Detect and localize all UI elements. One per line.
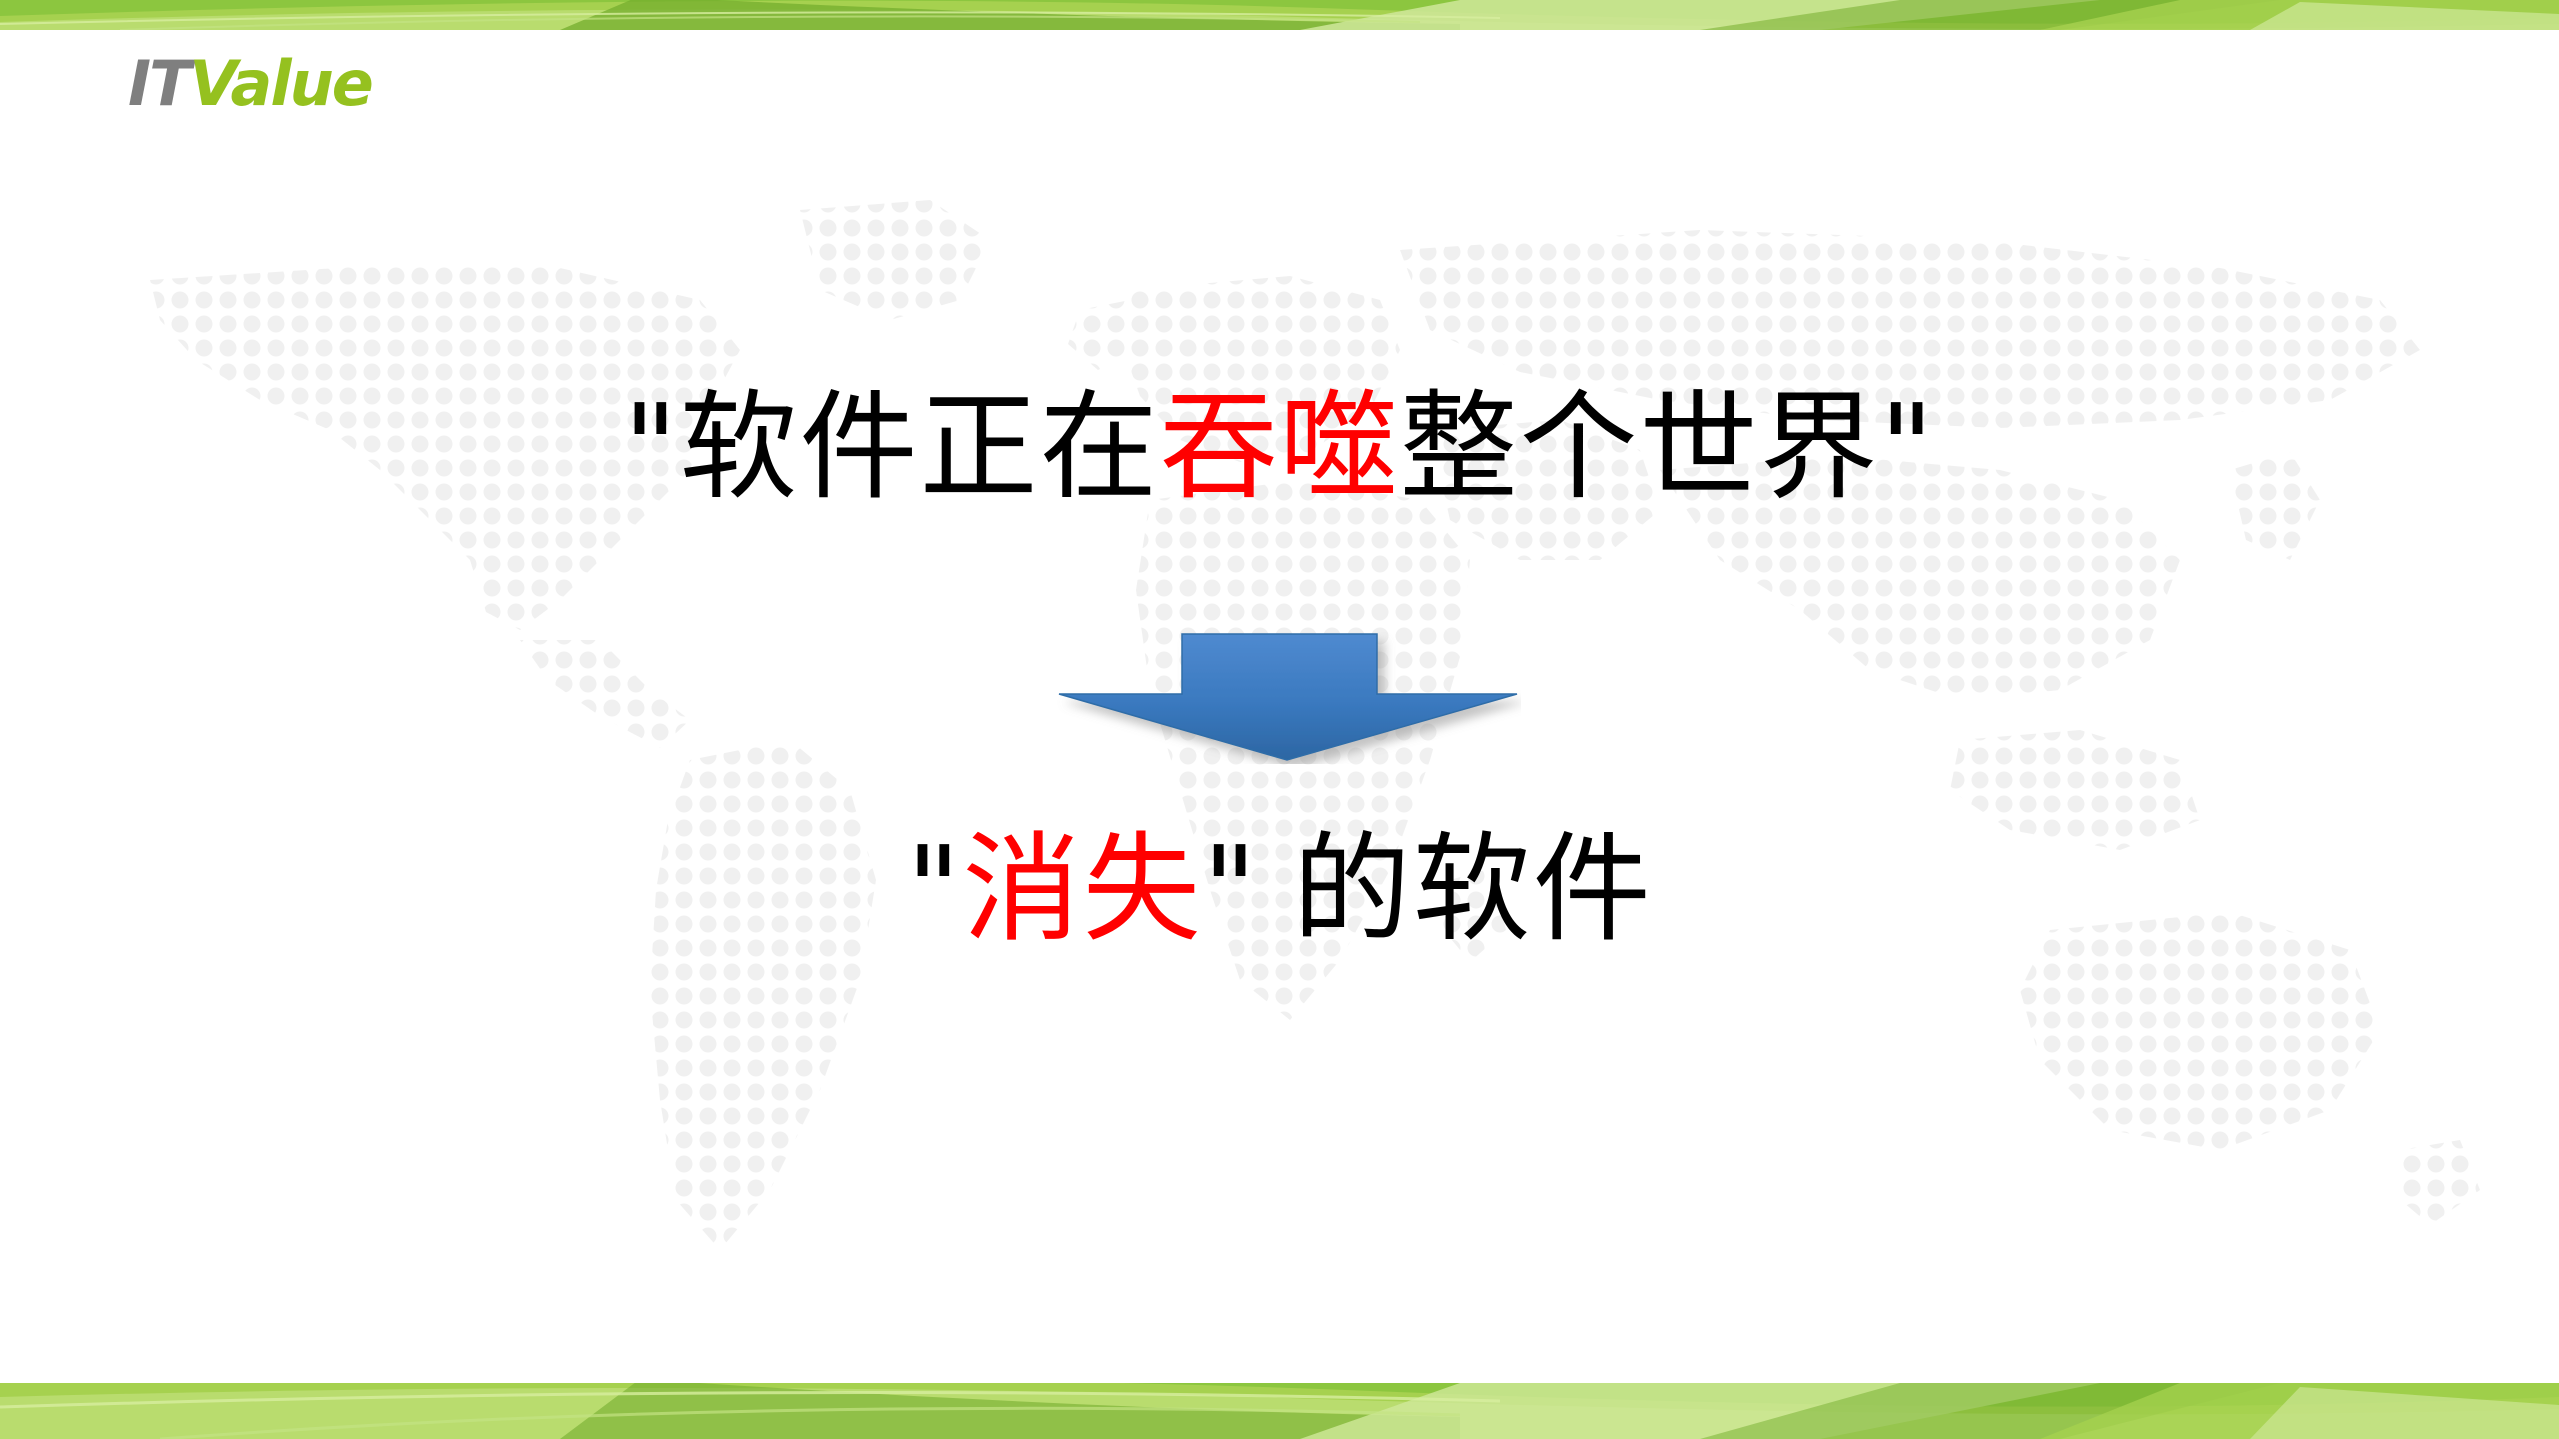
slide-canvas: IT Value "软件正在吞噬整个世界" [0,0,2559,1439]
subline-highlight: 消失 [962,820,1202,958]
subline-text-after: 的软件 [1293,820,1653,958]
subline-text: "消失"的软件 [0,820,2559,959]
subline-open-quote: " [906,820,962,958]
down-arrow [1055,632,1521,764]
headline-text-after: 整个世界 [1400,378,1880,516]
slide-content: "软件正在吞噬整个世界" "消失"的软件 [0,0,2559,1439]
headline-text-before: 软件正在 [679,378,1159,516]
headline-close-quote: " [1880,378,1936,516]
subline-close-quote: " [1203,820,1259,958]
headline-text: "软件正在吞噬整个世界" [0,378,2559,517]
headline-open-quote: " [623,378,679,516]
headline-highlight: 吞噬 [1159,378,1399,516]
